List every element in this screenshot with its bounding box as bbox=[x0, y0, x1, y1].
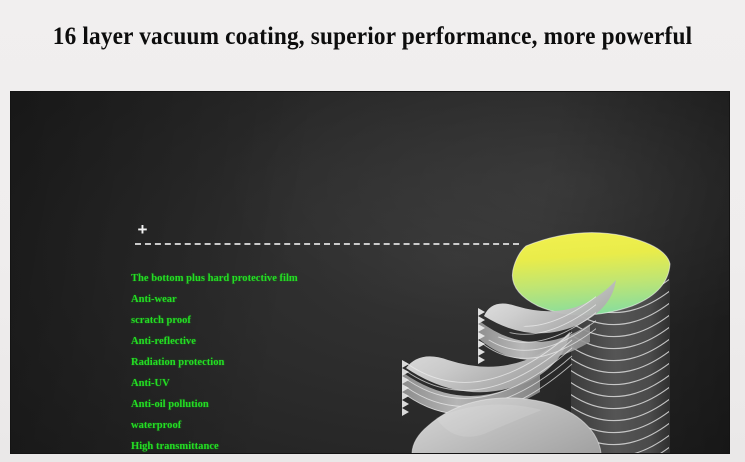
list-item: scratch proof bbox=[131, 310, 371, 331]
feature-list: The bottom plus hard protective film Ant… bbox=[131, 268, 381, 453]
page-root: 16 layer vacuum coating, superior perfor… bbox=[0, 0, 745, 462]
page-title: 16 layer vacuum coating, superior perfor… bbox=[26, 22, 719, 52]
lens-layer-stack-illustration bbox=[366, 220, 686, 453]
list-item: High transmittance bbox=[131, 436, 371, 453]
illustration-panel: + The bottom plus hard protective film A… bbox=[11, 92, 729, 453]
plus-icon: + bbox=[136, 223, 149, 236]
list-item: Anti-UV bbox=[131, 373, 371, 394]
list-item: Radiation protection bbox=[131, 352, 371, 373]
list-item: The bottom plus hard protective film bbox=[131, 268, 371, 289]
list-item: Anti-reflective bbox=[131, 331, 371, 352]
list-item: Anti-oil pollution bbox=[131, 394, 371, 415]
dashed-leader-top bbox=[135, 243, 519, 245]
list-item: waterproof bbox=[131, 415, 371, 436]
title-bar: 16 layer vacuum coating, superior perfor… bbox=[0, 0, 745, 86]
list-item: Anti-wear bbox=[131, 289, 371, 310]
